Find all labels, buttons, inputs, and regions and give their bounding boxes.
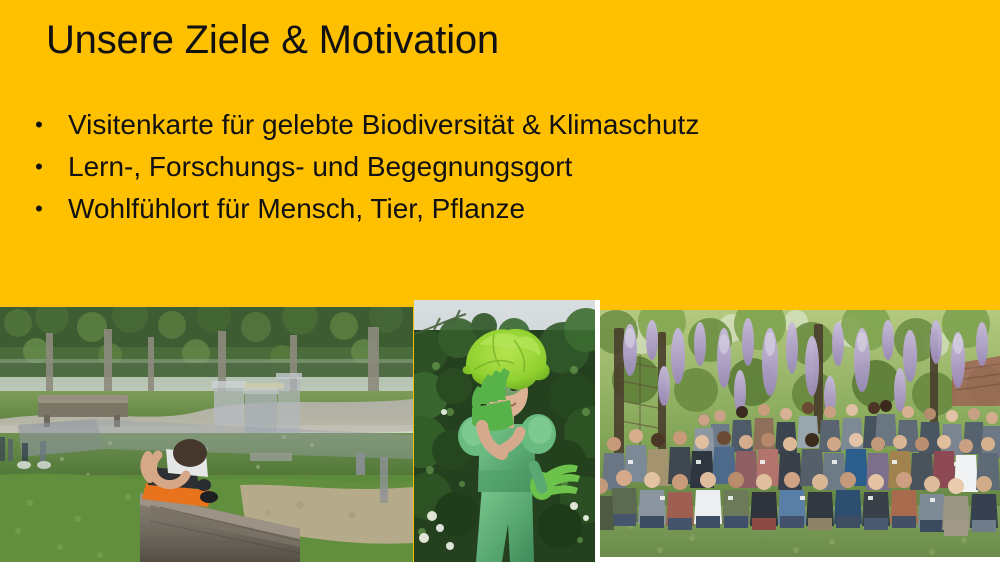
bullet-text: Wohlfühlort für Mensch, Tier, Pflanze bbox=[68, 188, 525, 230]
bullet-marker-icon: • bbox=[29, 146, 49, 188]
bullet-list: • Visitenkarte für gelebte Biodiversität… bbox=[24, 104, 924, 230]
list-item: • Wohlfühlort für Mensch, Tier, Pflanze bbox=[24, 188, 924, 230]
photo-strip bbox=[0, 300, 1000, 562]
page-title: Unsere Ziele & Motivation bbox=[46, 16, 946, 64]
list-item: • Lern-, Forschungs- und Begegnungsgort bbox=[24, 146, 924, 188]
bullet-text: Visitenkarte für gelebte Biodiversität &… bbox=[68, 104, 699, 146]
green-costume-photo bbox=[414, 300, 595, 562]
slide: Unsere Ziele & Motivation • Visitenkarte… bbox=[0, 0, 1000, 562]
bullet-marker-icon: • bbox=[29, 188, 49, 230]
group-photo bbox=[600, 310, 1000, 562]
bullet-text: Lern-, Forschungs- und Begegnungsgort bbox=[68, 146, 572, 188]
list-item: • Visitenkarte für gelebte Biodiversität… bbox=[24, 104, 924, 146]
orchard-bench-photo bbox=[0, 307, 413, 562]
bullet-marker-icon: • bbox=[29, 104, 49, 146]
